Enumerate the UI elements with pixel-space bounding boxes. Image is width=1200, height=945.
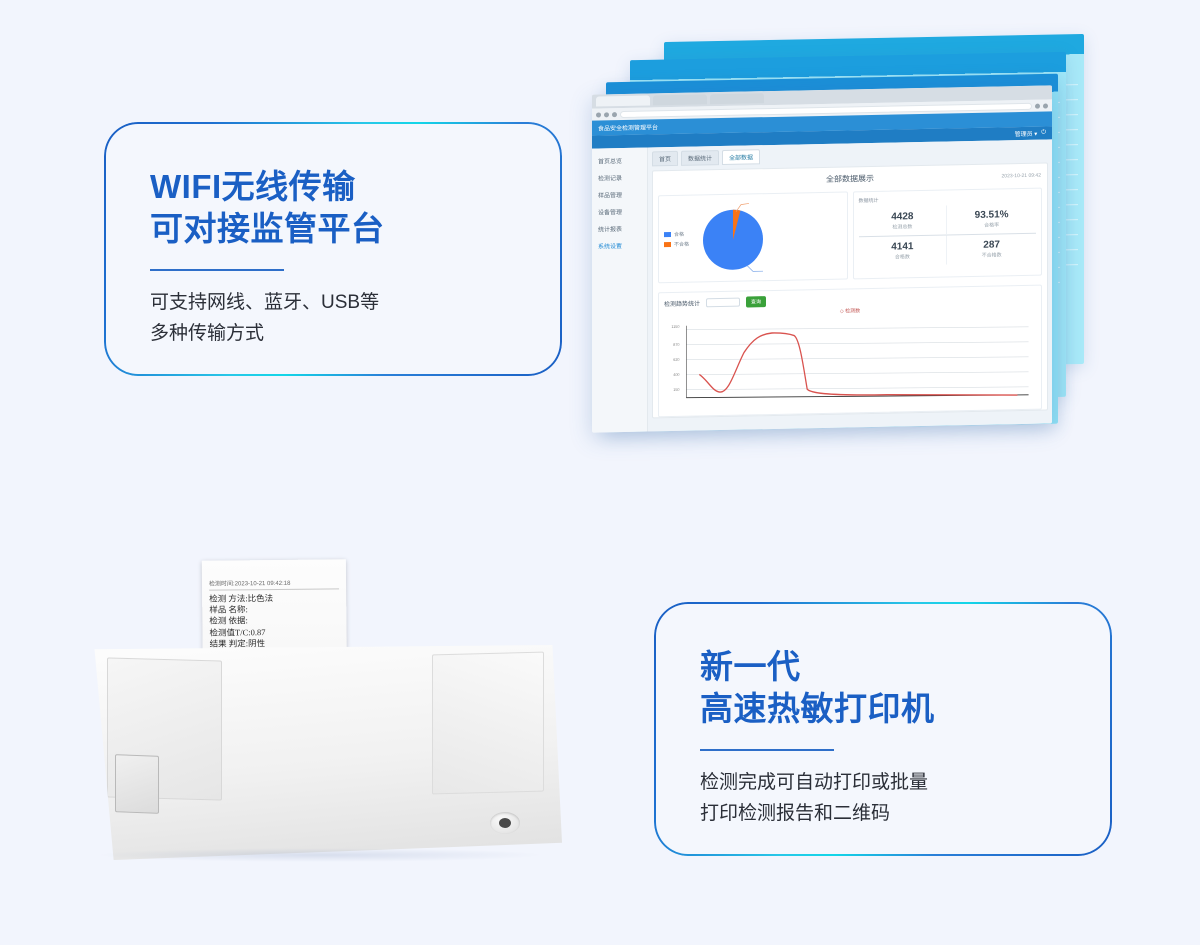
feature-card-printer: 新一代 高速热敏打印机 检测完成可自动打印或批量 打印检测报告和二维码 [654, 602, 1112, 856]
app-sidebar: 首页总览 检测记录 样品管理 设备管理 统计报表 系统设置 [592, 147, 648, 432]
overview-row: 合格 不合格 [653, 184, 1047, 288]
thermal-printer-photo: 检测时间:2023-10-21 09:42:18 检测 方法:比色法 样品 名称… [85, 560, 585, 880]
card-description: 可支持网线、蓝牙、USB等 多种传输方式 [150, 288, 516, 350]
browser-tab[interactable] [653, 94, 707, 105]
svg-text:870: 870 [673, 343, 679, 347]
tab-all-data[interactable]: 全部数据 [722, 149, 760, 165]
svg-text:400: 400 [673, 373, 679, 377]
printer-shadow [95, 848, 545, 862]
feature-card-wifi: WIFI无线传输 可对接监管平台 可支持网线、蓝牙、USB等 多种传输方式 [104, 122, 562, 376]
sidebar-item-records[interactable]: 检测记录 [592, 169, 647, 187]
card-title: WIFI无线传输 可对接监管平台 [150, 166, 516, 250]
tab-statistics[interactable]: 数据统计 [681, 150, 719, 166]
reload-icon[interactable] [612, 112, 617, 117]
legend-item-qualified: 合格 [664, 230, 689, 238]
trend-line-chart-svg: 1150870 620400 150 [664, 313, 1036, 406]
card-description: 检测完成可自动打印或批量 打印检测报告和二维码 [700, 768, 1066, 830]
user-menu[interactable]: 管理员 ▾ [1015, 129, 1038, 138]
logout-icon[interactable]: ⏻ [1041, 130, 1046, 137]
panel-timestamp: 2023-10-21 09:42 [1002, 173, 1041, 180]
app-title: 食品安全检测管理平台 [598, 122, 658, 132]
tab-home[interactable]: 首页 [652, 151, 678, 167]
overview-panel: 全部数据展示 2023-10-21 09:42 合格 [652, 162, 1048, 418]
stats-grid: 4428 检测总数 93.51% 合格率 4141 [859, 204, 1037, 267]
sidebar-item-reports[interactable]: 统计报表 [592, 220, 647, 238]
legend-item-unqualified: 不合格 [664, 240, 689, 248]
pie-chart-card: 合格 不合格 [658, 191, 848, 283]
legend-swatch [664, 232, 671, 237]
dashboard-browser-window: 食品安全检测管理平台 管理员 ▾ ⏻ 首页总览 检测记录 样品管理 设备管理 统… [592, 85, 1052, 432]
trend-chart-card: 检测趋势统计 查询 ◇ 检测数 [658, 285, 1042, 418]
pie-wrap: 合格 不合格 [664, 198, 842, 278]
trend-chart-heading: 检测趋势统计 [664, 298, 700, 308]
stat-pass-rate: 93.51% 合格率 [947, 204, 1036, 236]
power-button[interactable] [490, 812, 520, 834]
profile-icon[interactable] [1035, 103, 1040, 108]
card-title: 新一代 高速热敏打印机 [700, 646, 1066, 730]
sidebar-item-samples[interactable]: 样品管理 [592, 186, 647, 204]
card-divider [700, 749, 834, 751]
sidebar-item-home[interactable]: 首页总览 [592, 152, 647, 170]
browser-tab[interactable] [596, 95, 650, 106]
svg-text:620: 620 [673, 358, 679, 362]
paper-compartment-lid-right[interactable] [432, 652, 544, 795]
browser-tab[interactable] [710, 93, 764, 104]
sidebar-item-devices[interactable]: 设备管理 [592, 203, 647, 221]
app-content: 首页 数据统计 全部数据 全部数据展示 2023-10-21 09:42 [648, 139, 1052, 432]
year-input[interactable] [706, 298, 740, 308]
card-divider [150, 269, 284, 271]
paper-release-latch[interactable] [115, 754, 159, 814]
sidebar-item-settings[interactable]: 系统设置 [592, 237, 647, 255]
product-feature-page: ✎✕ ✎✕ ✎✕ ✎✕ ✎✕ ✎✕ ✎✕ ✎✕ ✎✕ ✎✕ ✎✕ ✎✕ ✎✕ ✎… [0, 0, 1200, 945]
svg-text:1150: 1150 [671, 325, 679, 329]
pie-chart-svg [695, 199, 771, 277]
stats-card: 数据统计 4428 检测总数 93.51% 合格率 [853, 188, 1043, 280]
back-icon[interactable] [596, 112, 601, 117]
pie-legend: 合格 不合格 [664, 230, 689, 248]
stats-section-label: 数据统计 [859, 194, 1037, 205]
stat-qualified: 4141 合格数 [859, 235, 948, 266]
receipt-header-line: 检测时间:2023-10-21 09:42:18 [209, 577, 339, 590]
menu-icon[interactable] [1043, 103, 1048, 108]
svg-text:150: 150 [673, 388, 679, 392]
forward-icon[interactable] [604, 112, 609, 117]
dashboard-screenshot-stack: ✎✕ ✎✕ ✎✕ ✎✕ ✎✕ ✎✕ ✎✕ ✎✕ ✎✕ ✎✕ ✎✕ ✎✕ ✎✕ ✎… [592, 38, 1092, 428]
legend-swatch [664, 242, 671, 247]
stat-unqualified: 287 不合格数 [947, 234, 1036, 265]
app-body: 首页总览 检测记录 样品管理 设备管理 统计报表 系统设置 首页 数据统计 全部… [592, 139, 1052, 432]
search-button[interactable]: 查询 [746, 296, 766, 307]
panel-title: 全部数据展示 [826, 174, 874, 184]
printer-body [85, 645, 562, 860]
stat-total: 4428 检测总数 [859, 205, 948, 237]
